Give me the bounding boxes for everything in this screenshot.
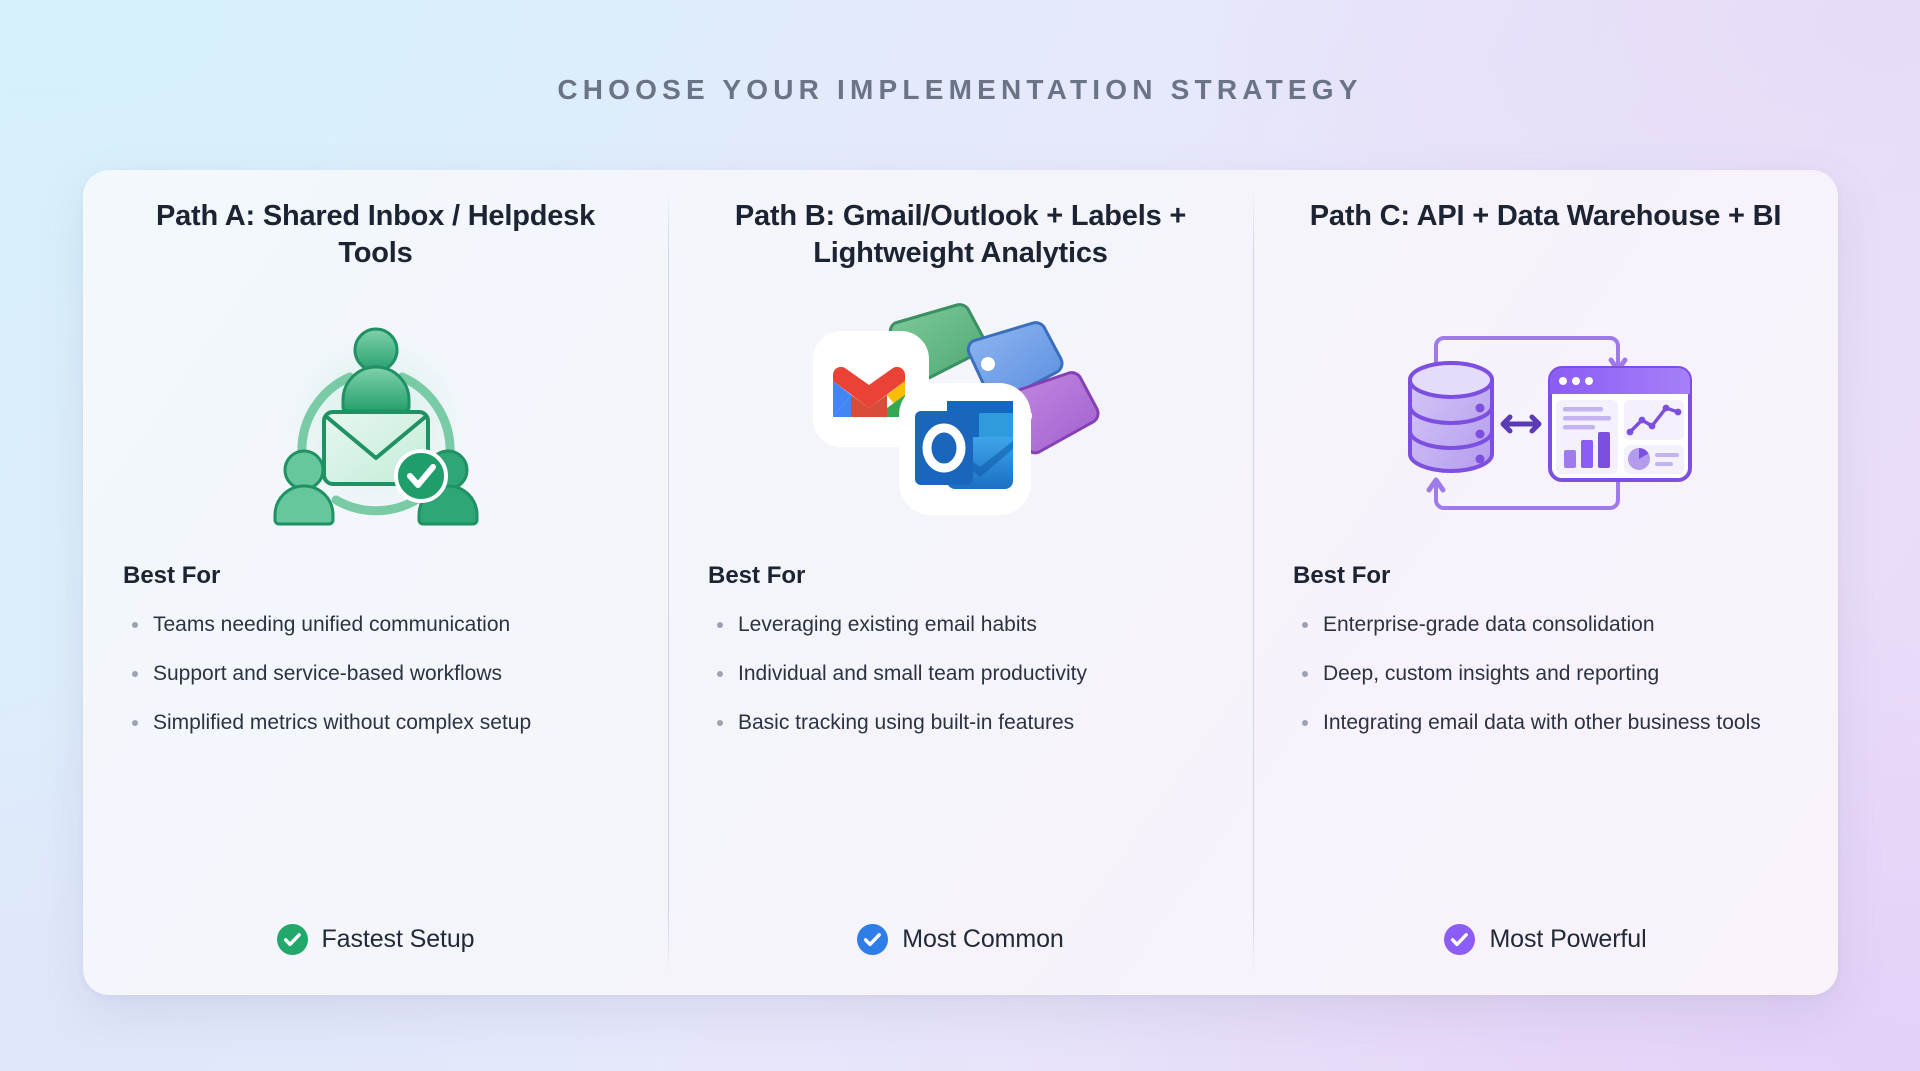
best-for-label-path-c: Best For [1289,562,1802,590]
database-bi-dashboard-illustration [1289,288,1802,556]
column-title-path-a: Path A: Shared Inbox / Helpdesk Tools [119,198,632,274]
list-item: Leveraging existing email habits [708,610,1217,640]
strategy-column-path-c[interactable]: Path C: API + Data Warehouse + BI [1253,170,1838,995]
gmail-outlook-labels-illustration [704,288,1217,556]
best-for-label-path-a: Best For [119,562,632,590]
best-for-label-path-b: Best For [704,562,1217,590]
database-cylinder [1410,363,1492,471]
list-item: Basic tracking using built-in features [708,708,1217,738]
page-title: CHOOSE YOUR IMPLEMENTATION STRATEGY [0,74,1920,106]
shared-inbox-team-illustration [119,288,632,556]
best-for-list-path-c: Enterprise-grade data consolidation Deep… [1289,610,1802,756]
bi-dashboard-window [1550,368,1690,480]
list-item: Deep, custom insights and reporting [1293,659,1802,689]
check-circle-icon [277,924,308,955]
status-badge-path-c[interactable]: Most Powerful [1289,924,1802,995]
list-item: Support and service-based workflows [123,659,632,689]
best-for-list-path-b: Leveraging existing email habits Individ… [704,610,1217,756]
best-for-list-path-a: Teams needing unified communication Supp… [119,610,632,756]
list-item: Simplified metrics without complex setup [123,708,632,738]
list-item: Integrating email data with other busine… [1293,708,1802,738]
slide-canvas: CHOOSE YOUR IMPLEMENTATION STRATEGY Path… [0,0,1920,1071]
list-item: Enterprise-grade data consolidation [1293,610,1802,640]
status-badge-path-b[interactable]: Most Common [704,924,1217,995]
check-circle-icon [1444,924,1475,955]
status-badge-label: Most Common [902,925,1063,954]
column-title-path-c: Path C: API + Data Warehouse + BI [1289,198,1802,274]
strategy-column-path-b[interactable]: Path B: Gmail/Outlook + Labels + Lightwe… [668,170,1253,995]
column-title-path-b: Path B: Gmail/Outlook + Labels + Lightwe… [704,198,1217,274]
strategy-comparison-card: Path A: Shared Inbox / Helpdesk Tools [83,170,1838,995]
check-circle-icon [857,924,888,955]
outlook-app-tile [899,383,1031,515]
status-badge-path-a[interactable]: Fastest Setup [119,924,632,995]
status-badge-label: Most Powerful [1489,925,1646,954]
bidirectional-arrow-icon [1503,417,1539,431]
status-badge-label: Fastest Setup [322,925,475,954]
strategy-column-path-a[interactable]: Path A: Shared Inbox / Helpdesk Tools [83,170,668,995]
list-item: Teams needing unified communication [123,610,632,640]
list-item: Individual and small team productivity [708,659,1217,689]
